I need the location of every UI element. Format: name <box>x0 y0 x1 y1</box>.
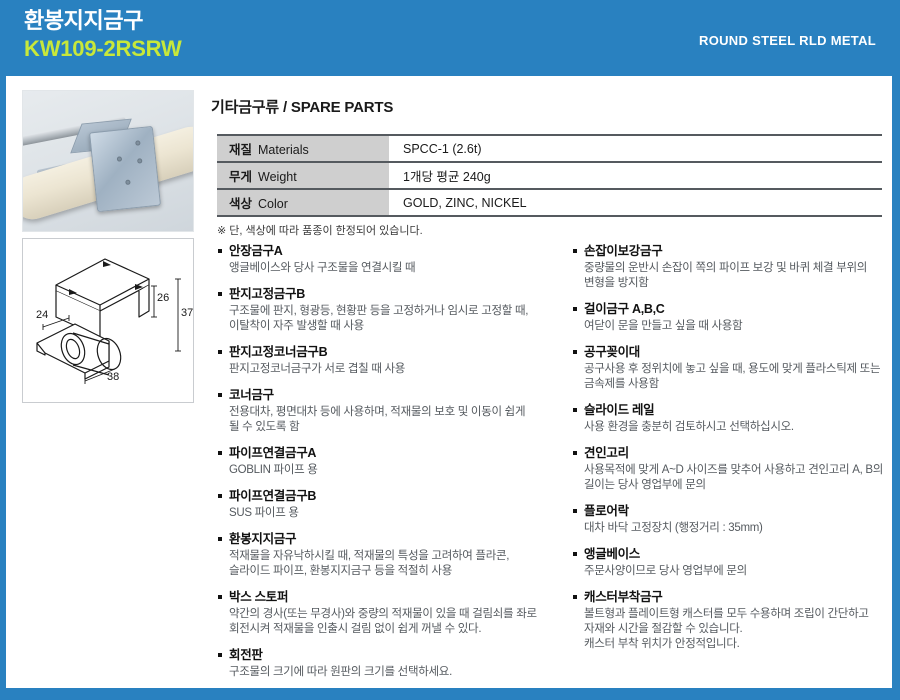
list-item: 박스 스토퍼약간의 경사(또는 무경사)와 중량의 적재물이 있을 때 걸림쇠를… <box>217 590 562 637</box>
parts-list-right: 손잡이보강금구중량물의 운반시 손잡이 쪽의 파이프 보강 및 바퀴 체결 부위… <box>572 244 890 663</box>
part-description: 적재물을 자유낙하시킬 때, 적재물의 특성을 고려하여 플라콘,슬라이드 파이… <box>217 549 562 579</box>
list-item: 코너금구전용대차, 평면대차 등에 사용하며, 적재물의 보호 및 이동이 쉽게… <box>217 388 562 435</box>
list-item: 파이프연결금구BSUS 파이프 용 <box>217 489 562 521</box>
table-row: 무게Weight 1개당 평균 240g <box>217 162 882 189</box>
section-title: 기타금구류 / SPARE PARTS <box>211 96 393 117</box>
part-name: 박스 스토퍼 <box>217 590 562 605</box>
part-description: 공구사용 후 정위치에 놓고 싶을 때, 용도에 맞게 플라스틱제 또는금속제를… <box>572 362 890 392</box>
header-category-label: ROUND STEEL RLD METAL <box>699 33 876 48</box>
dimension-label-38: 38 <box>107 371 119 383</box>
part-name: 코너금구 <box>217 388 562 403</box>
technical-drawing: 26 37 24 38 <box>22 238 194 403</box>
spec-label-en: Materials <box>258 143 309 157</box>
part-name: 손잡이보강금구 <box>572 244 890 259</box>
list-item: 견인고리사용목적에 맞게 A~D 사이즈를 맞추어 사용하고 견인고리 A, B… <box>572 446 890 493</box>
photo-screw-4 <box>125 180 130 185</box>
part-name: 공구꽂이대 <box>572 345 890 360</box>
spec-label-kr: 색상 <box>229 197 252 211</box>
list-item: 판지고정금구B구조물에 판지, 형광등, 현황판 등을 고정하거나 임시로 고정… <box>217 287 562 334</box>
part-name: 안장금구A <box>217 244 562 259</box>
list-item: 공구꽂이대공구사용 후 정위치에 놓고 싶을 때, 용도에 맞게 플라스틱제 또… <box>572 345 890 392</box>
list-item: 회전판구조물의 크기에 따라 원판의 크기를 선택하세요. <box>217 648 562 680</box>
part-description: 중량물의 운반시 손잡이 쪽의 파이프 보강 및 바퀴 체결 부위의변형을 방지… <box>572 261 890 291</box>
specification-table: 재질Materials SPCC-1 (2.6t) 무게Weight 1개당 평… <box>217 134 882 217</box>
spec-footnote: ※ 단, 색상에 따라 품종이 한정되어 있습니다. <box>217 222 423 238</box>
part-name: 판지고정코너금구B <box>217 345 562 360</box>
dimension-label-26: 26 <box>157 292 169 304</box>
part-description: 구조물의 크기에 따라 원판의 크기를 선택하세요. <box>217 665 562 680</box>
spec-value-weight: 1개당 평균 240g <box>389 162 882 189</box>
dimension-label-24: 24 <box>36 309 48 321</box>
list-item: 환봉지지금구적재물을 자유낙하시킬 때, 적재물의 특성을 고려하여 플라콘,슬… <box>217 532 562 579</box>
part-name: 파이프연결금구A <box>217 446 562 461</box>
spec-label-en: Color <box>258 197 288 211</box>
part-description: 볼트형과 플레이트형 캐스터를 모두 수용하며 조립이 간단하고자재와 시간을 … <box>572 607 890 652</box>
page-header: 환봉지지금구 KW109-2RSRW ROUND STEEL RLD METAL <box>0 0 900 76</box>
part-description: 사용목적에 맞게 A~D 사이즈를 맞추어 사용하고 견인고리 A, B의길이는… <box>572 463 890 493</box>
list-item: 파이프연결금구AGOBLIN 파이프 용 <box>217 446 562 478</box>
photo-screw-3 <box>137 158 142 163</box>
part-description: 앵글베이스와 당사 구조물을 연결시킬 때 <box>217 261 562 276</box>
part-name: 파이프연결금구B <box>217 489 562 504</box>
part-name: 걸이금구 A,B,C <box>572 302 890 317</box>
part-name: 견인고리 <box>572 446 890 461</box>
photo-screw-1 <box>135 140 140 145</box>
catalog-page: 환봉지지금구 KW109-2RSRW ROUND STEEL RLD METAL <box>0 0 900 700</box>
spec-label-kr: 무게 <box>229 170 252 184</box>
part-name: 회전판 <box>217 648 562 663</box>
part-name: 환봉지지금구 <box>217 532 562 547</box>
part-description: 여닫이 문을 만들고 싶을 때 사용함 <box>572 319 890 334</box>
spec-label-color: 색상Color <box>217 189 389 216</box>
product-title-kr: 환봉지지금구 <box>24 8 182 34</box>
part-description: SUS 파이프 용 <box>217 506 562 521</box>
specification-table-body: 재질Materials SPCC-1 (2.6t) 무게Weight 1개당 평… <box>217 135 882 216</box>
part-description: 전용대차, 평면대차 등에 사용하며, 적재물의 보호 및 이동이 쉽게될 수 … <box>217 405 562 435</box>
part-description: 구조물에 판지, 형광등, 현황판 등을 고정하거나 임시로 고정할 때,이탈착… <box>217 304 562 334</box>
list-item: 판지고정코너금구B판지고정코너금구가 서로 겹칠 때 사용 <box>217 345 562 377</box>
spec-label-en: Weight <box>258 170 297 184</box>
part-description: 주문사양이므로 당사 영업부에 문의 <box>572 564 890 579</box>
list-item: 앵글베이스주문사양이므로 당사 영업부에 문의 <box>572 547 890 579</box>
list-item: 안장금구A앵글베이스와 당사 구조물을 연결시킬 때 <box>217 244 562 276</box>
list-item: 플로어락대차 바닥 고정장치 (행정거리 : 35mm) <box>572 504 890 536</box>
part-name: 플로어락 <box>572 504 890 519</box>
part-description: GOBLIN 파이프 용 <box>217 463 562 478</box>
part-name: 판지고정금구B <box>217 287 562 302</box>
table-row: 색상Color GOLD, ZINC, NICKEL <box>217 189 882 216</box>
spec-label-materials: 재질Materials <box>217 135 389 162</box>
part-name: 슬라이드 레일 <box>572 403 890 418</box>
photo-screw-2 <box>117 156 122 161</box>
part-description: 판지고정코너금구가 서로 겹칠 때 사용 <box>217 362 562 377</box>
list-item: 캐스터부착금구볼트형과 플레이트형 캐스터를 모두 수용하며 조립이 간단하고자… <box>572 590 890 652</box>
part-name: 앵글베이스 <box>572 547 890 562</box>
brand-block: 환봉지지금구 KW109-2RSRW <box>24 8 182 63</box>
spec-label-weight: 무게Weight <box>217 162 389 189</box>
photo-clamp-body <box>89 126 161 212</box>
part-name: 캐스터부착금구 <box>572 590 890 605</box>
list-item: 손잡이보강금구중량물의 운반시 손잡이 쪽의 파이프 보강 및 바퀴 체결 부위… <box>572 244 890 291</box>
part-description: 사용 환경을 충분히 검토하시고 선택하십시오. <box>572 420 890 435</box>
spec-value-color: GOLD, ZINC, NICKEL <box>389 189 882 216</box>
part-description: 대차 바닥 고정장치 (행정거리 : 35mm) <box>572 521 890 536</box>
product-photo <box>22 90 194 232</box>
spec-label-kr: 재질 <box>229 143 252 157</box>
dimension-label-37: 37 <box>181 307 193 319</box>
part-description: 약간의 경사(또는 무경사)와 중량의 적재물이 있을 때 걸림쇠를 좌로회전시… <box>217 607 562 637</box>
content-sheet: 26 37 24 38 기타금구류 / SPARE PARTS 재질Materi… <box>6 76 892 688</box>
photo-background <box>23 91 193 231</box>
list-item: 슬라이드 레일사용 환경을 충분히 검토하시고 선택하십시오. <box>572 403 890 435</box>
parts-list-left: 안장금구A앵글베이스와 당사 구조물을 연결시킬 때판지고정금구B구조물에 판지… <box>217 244 562 691</box>
spec-value-materials: SPCC-1 (2.6t) <box>389 135 882 162</box>
list-item: 걸이금구 A,B,C여닫이 문을 만들고 싶을 때 사용함 <box>572 302 890 334</box>
product-model-code: KW109-2RSRW <box>24 35 182 63</box>
table-row: 재질Materials SPCC-1 (2.6t) <box>217 135 882 162</box>
